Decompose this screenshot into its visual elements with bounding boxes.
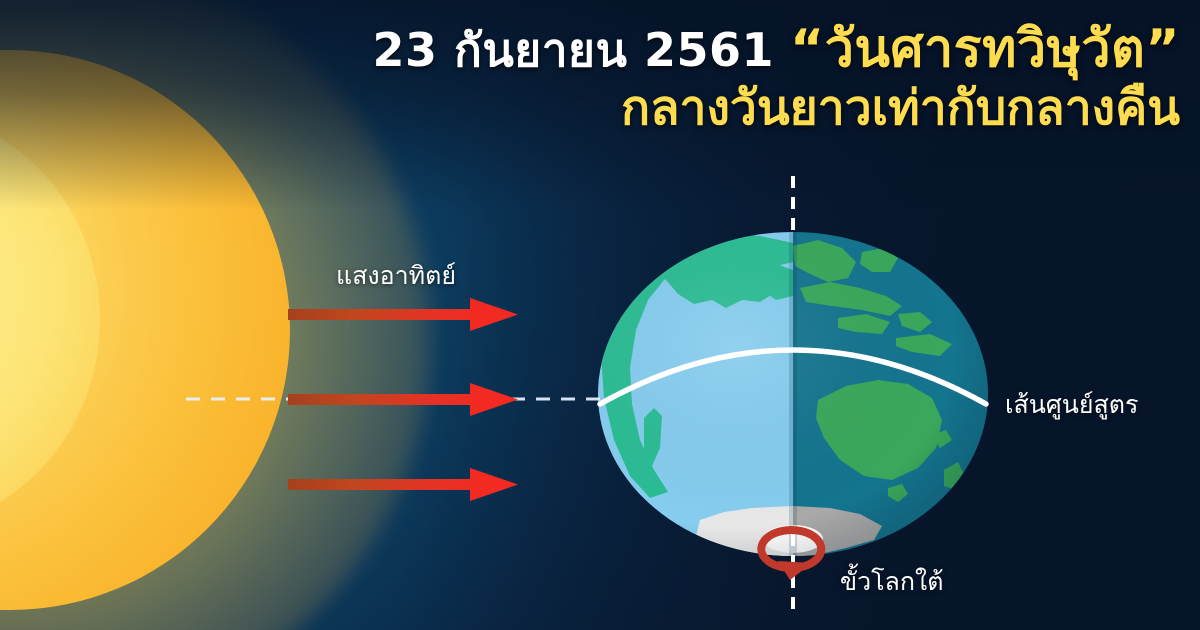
title-block: 23 กันยายน 2561 “วันศารทวิษุวัต” กลางวัน… — [0, 20, 1180, 136]
label-south-pole: ขั้วโลกใต้ — [840, 562, 943, 602]
title-line-1: 23 กันยายน 2561 “วันศารทวิษุวัต” — [0, 20, 1180, 80]
title-headline: “วันศารทวิษุวัต” — [790, 19, 1180, 79]
label-sunlight: แสงอาทิตย์ — [336, 256, 456, 296]
title-date: 23 กันยายน 2561 — [372, 23, 774, 77]
title-subheadline: กลางวันยาวเท่ากับกลางคืน — [0, 80, 1180, 137]
label-equator: เส้นศูนย์สูตร — [1005, 385, 1138, 425]
earth-rotation-arrow — [761, 530, 821, 580]
infographic-canvas: 23 กันยายน 2561 “วันศารทวิษุวัต” กลางวัน… — [0, 0, 1200, 630]
